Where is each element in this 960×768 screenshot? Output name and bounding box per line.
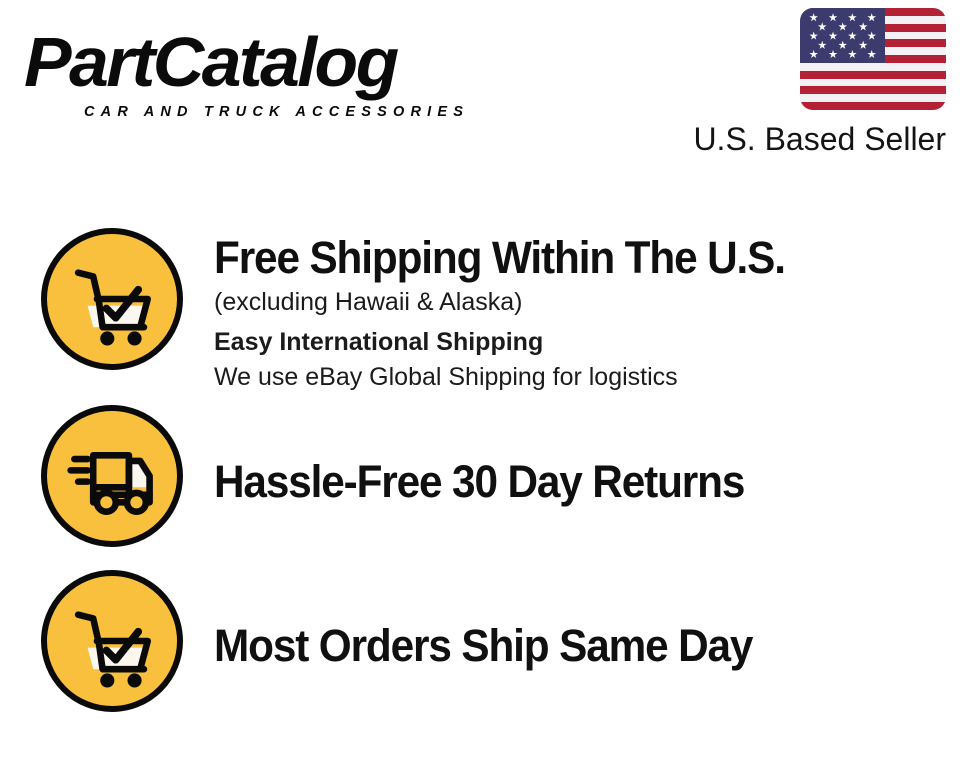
us-based-seller-block: U.S. Based Seller — [686, 8, 946, 158]
flag-stripe — [800, 79, 946, 87]
flag-star — [809, 50, 818, 59]
flag-stripe — [800, 63, 946, 71]
flag-star — [809, 31, 818, 40]
flag-stripe — [800, 71, 946, 79]
flag-star — [818, 22, 827, 31]
shopping-cart-check-icon — [41, 228, 183, 370]
flag-star — [818, 41, 827, 50]
feature-list: Free Shipping Within The U.S. (excluding… — [0, 228, 960, 708]
seller-label: U.S. Based Seller — [686, 121, 946, 158]
feature-row-returns: Hassle-Free 30 Day Returns — [0, 392, 960, 558]
shopping-cart-check-icon — [41, 570, 183, 712]
feature-headline: Most Orders Ship Same Day — [214, 620, 915, 672]
feature-text-free-shipping: Free Shipping Within The U.S. (excluding… — [183, 228, 960, 394]
feature-subtext: We use eBay Global Shipping for logistic… — [214, 360, 960, 394]
feature-headline: Hassle-Free 30 Day Returns — [214, 456, 915, 508]
flag-star — [848, 50, 857, 59]
flag-star-row — [804, 41, 881, 50]
flag-star — [829, 13, 838, 22]
us-flag-icon — [800, 8, 946, 110]
brand-wordmark: PartCatalog — [24, 22, 397, 102]
feature-text-same-day-shipping: Most Orders Ship Same Day — [183, 558, 960, 672]
delivery-truck-icon — [41, 405, 183, 547]
flag-star — [867, 13, 876, 22]
brand-tagline: CAR AND TRUCK ACCESSORIES — [84, 104, 469, 120]
feature-headline: Free Shipping Within The U.S. — [214, 232, 915, 284]
flag-star — [838, 22, 847, 31]
flag-star — [859, 41, 868, 50]
flag-star-row — [804, 13, 881, 22]
flag-star-row — [804, 31, 881, 40]
flag-star-row — [804, 22, 881, 31]
flag-star — [829, 31, 838, 40]
feature-text-returns: Hassle-Free 30 Day Returns — [183, 392, 960, 508]
flag-star — [867, 50, 876, 59]
flag-star — [848, 31, 857, 40]
flag-star-row — [804, 50, 881, 59]
feature-note: (excluding Hawaii & Alaska) — [214, 285, 960, 319]
feature-row-same-day-shipping: Most Orders Ship Same Day — [0, 558, 960, 708]
flag-stripe — [800, 102, 946, 110]
flag-star — [867, 31, 876, 40]
feature-row-free-shipping: Free Shipping Within The U.S. (excluding… — [0, 228, 960, 392]
flag-stripe — [800, 86, 946, 94]
flag-star — [848, 13, 857, 22]
flag-stripe — [800, 94, 946, 102]
flag-star — [838, 41, 847, 50]
flag-canton — [800, 8, 885, 63]
shipping-info-banner: PartCatalog CAR AND TRUCK ACCESSORIES — [0, 0, 960, 768]
flag-star — [829, 50, 838, 59]
flag-star — [809, 13, 818, 22]
flag-star — [859, 22, 868, 31]
feature-subheading: Easy International Shipping — [214, 325, 960, 359]
brand-logo: PartCatalog CAR AND TRUCK ACCESSORIES — [24, 22, 484, 118]
